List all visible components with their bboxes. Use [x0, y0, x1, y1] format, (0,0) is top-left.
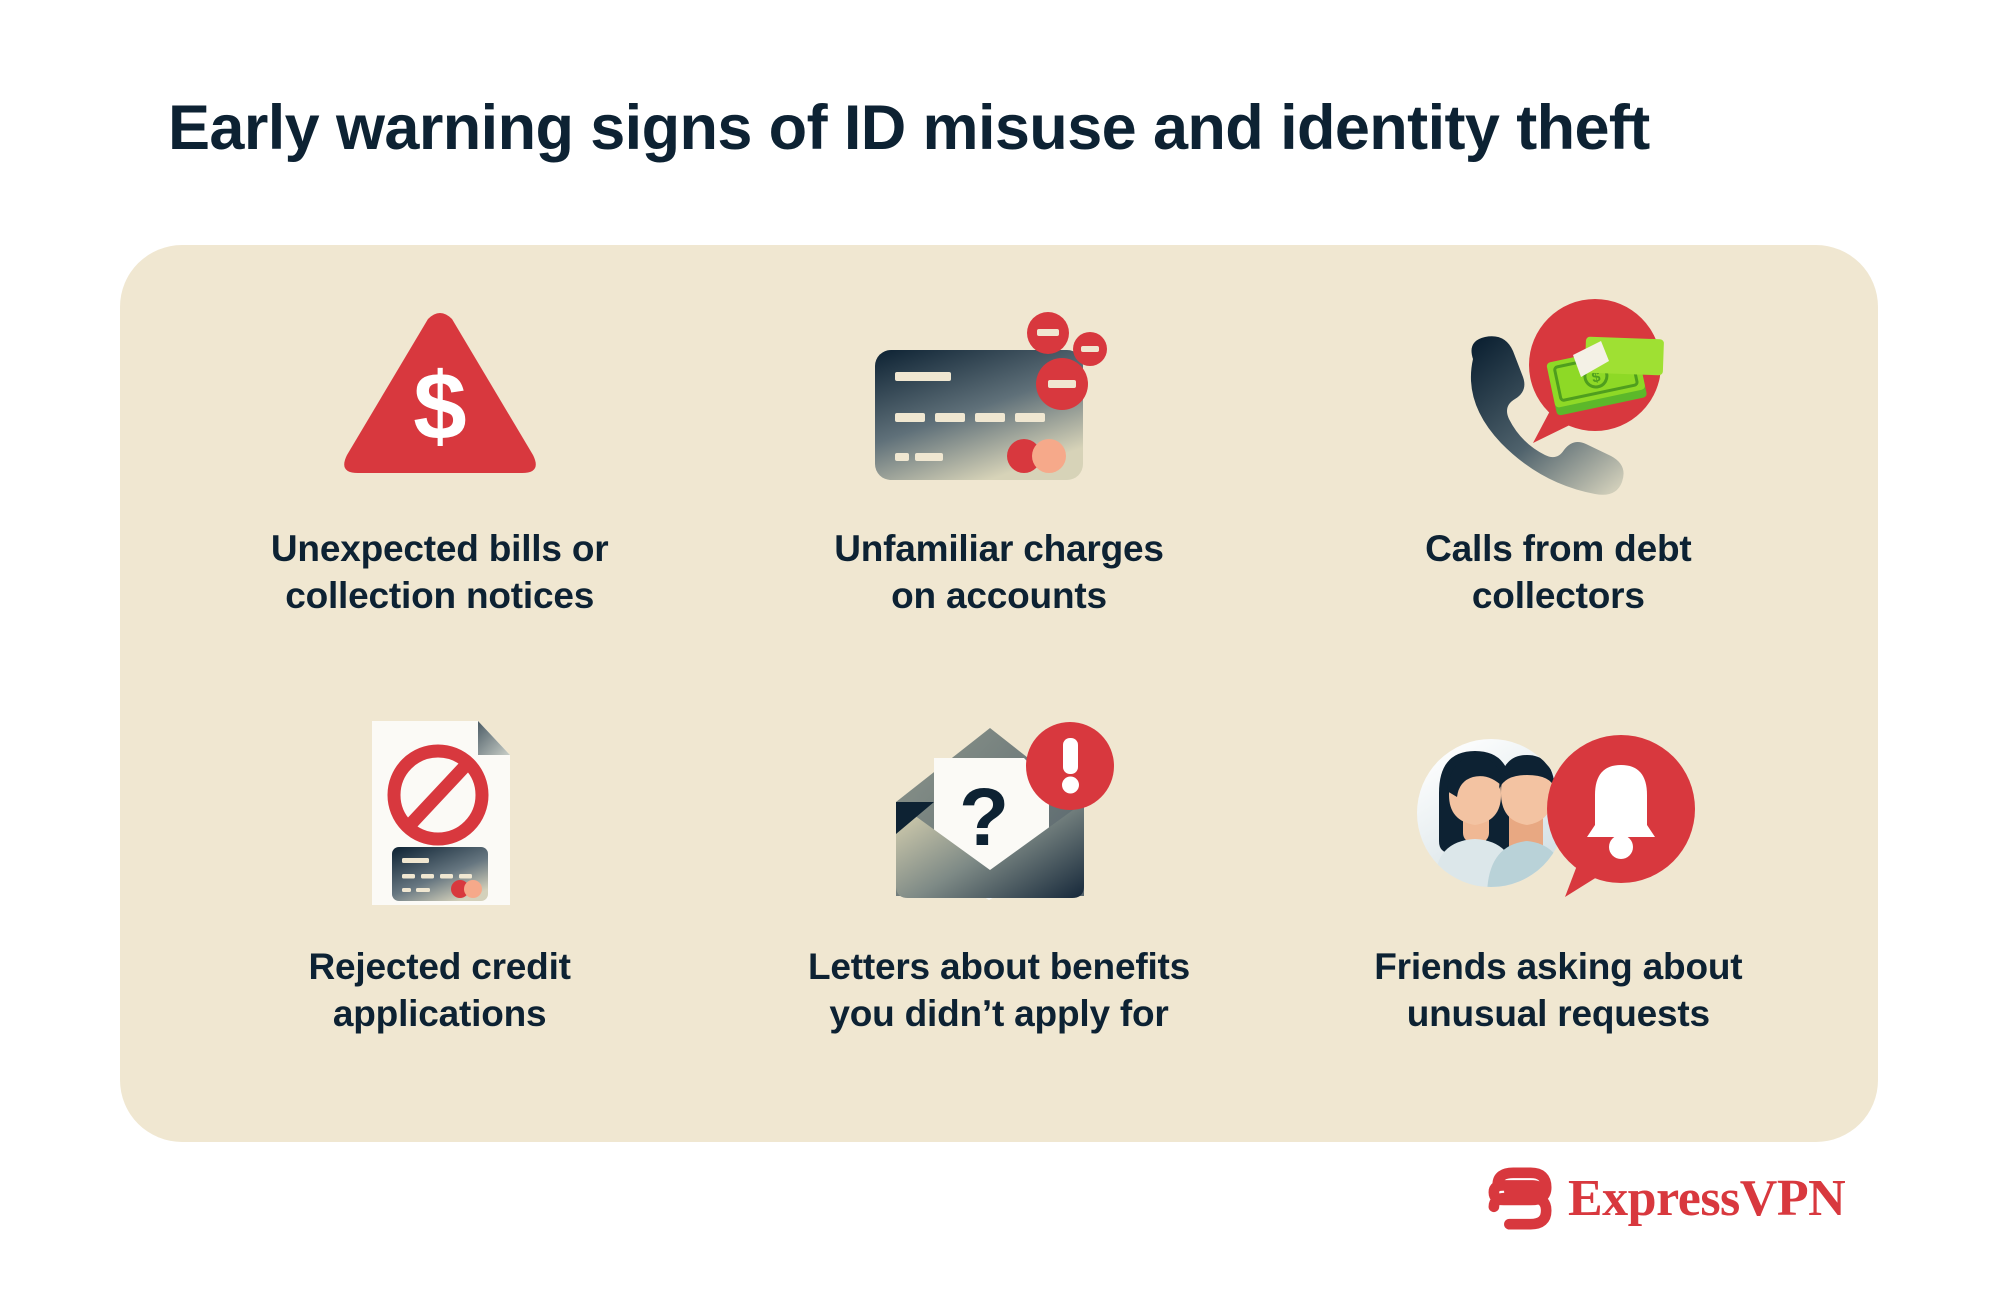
warning-sign-item-3: $ Calls from debt collectors [1279, 279, 1838, 697]
warning-sign-label-1: Unexpected bills or collection notices [271, 525, 609, 620]
warning-triangle-dollar-icon: $ [160, 279, 719, 511]
document-rejected-credit-icon [160, 697, 719, 929]
infographic-page: Early warning signs of ID misuse and ide… [0, 0, 1999, 1311]
warning-sign-label-5: Letters about benefits you didn’t apply … [808, 943, 1190, 1038]
credit-card-unfamiliar-charges-icon [719, 279, 1278, 511]
warning-sign-item-6: Friends asking about unusual requests [1279, 697, 1838, 1115]
warning-sign-item-4: Rejected credit applications [160, 697, 719, 1115]
page-title: Early warning signs of ID misuse and ide… [168, 92, 1868, 164]
content-card: $ Unexpected bills or collection notices [120, 245, 1878, 1142]
svg-text:$: $ [413, 353, 466, 460]
warning-sign-item-5: ? Letters about benefits you didn’t appl… [719, 697, 1278, 1115]
expressvpn-logo[interactable]: ExpressVPN [1490, 1168, 1845, 1230]
friends-avatar-bell-bubble-icon [1279, 697, 1838, 929]
warning-sign-item-2: Unfamiliar charges on accounts [719, 279, 1278, 697]
envelope-question-alert-icon: ? [719, 697, 1278, 929]
phone-call-money-bubble-icon: $ [1279, 279, 1838, 511]
warning-sign-label-6: Friends asking about unusual requests [1374, 943, 1742, 1038]
warning-sign-label-2: Unfamiliar charges on accounts [834, 525, 1164, 620]
warning-sign-item-1: $ Unexpected bills or collection notices [160, 279, 719, 697]
svg-text:?: ? [959, 772, 1009, 863]
warning-sign-label-3: Calls from debt collectors [1425, 525, 1691, 620]
warning-sign-label-4: Rejected credit applications [309, 943, 571, 1038]
expressvpn-e-mark-icon [1490, 1168, 1552, 1230]
expressvpn-wordmark: ExpressVPN [1568, 1173, 1845, 1225]
warning-signs-grid: $ Unexpected bills or collection notices [120, 245, 1878, 1142]
